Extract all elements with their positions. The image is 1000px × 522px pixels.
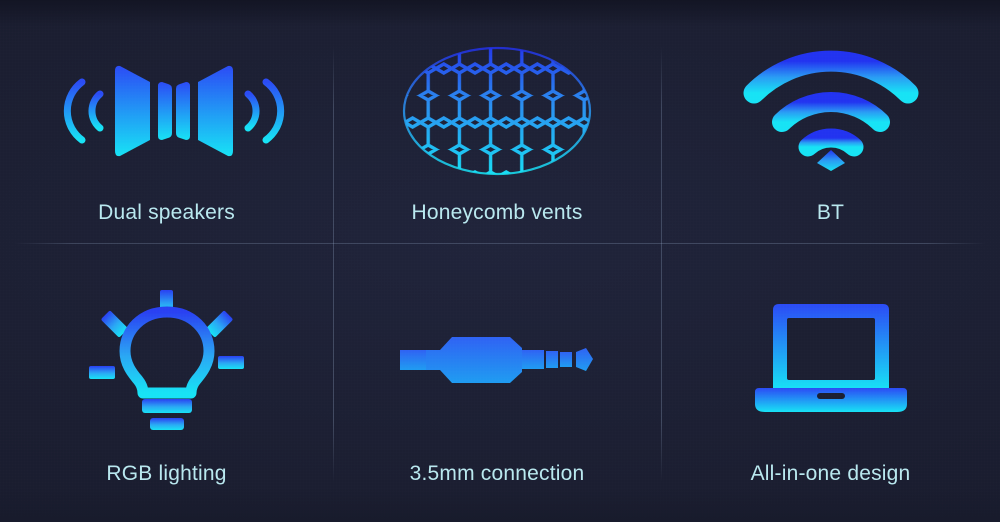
feature-label-dual-speakers: Dual speakers: [98, 202, 235, 223]
honeycomb-vents-icon: [397, 41, 597, 181]
bluetooth-wifi-signal-icon: [746, 51, 916, 171]
dual-speakers-icon-area: [0, 36, 333, 186]
feature-cell-honeycomb-vents[interactable]: Honeycomb vents: [333, 0, 661, 243]
feature-label-all-in-one-design: All-in-one design: [751, 463, 911, 484]
dual-speakers-icon: [62, 56, 272, 166]
light-bulb-icon: [87, 290, 247, 430]
feature-cell-35mm-connection[interactable]: 3.5mm connection: [333, 243, 661, 522]
feature-label-35mm-connection: 3.5mm connection: [410, 463, 585, 484]
feature-cell-all-in-one-design[interactable]: All-in-one design: [661, 243, 1000, 522]
audio-jack-icon-area: [333, 285, 661, 435]
feature-label-bt: BT: [817, 202, 844, 223]
feature-label-honeycomb-vents: Honeycomb vents: [411, 202, 582, 223]
honeycomb-vents-icon-area: [333, 36, 661, 186]
audio-jack-icon: [400, 328, 595, 392]
feature-board: Dual speakers: [0, 0, 1000, 522]
feature-cell-dual-speakers[interactable]: Dual speakers: [0, 0, 333, 243]
bt-icon-area: [661, 36, 1000, 186]
feature-cell-rgb-lighting[interactable]: RGB lighting: [0, 243, 333, 522]
laptop-icon-area: [661, 285, 1000, 435]
feature-cell-bt[interactable]: BT: [661, 0, 1000, 243]
rgb-lighting-icon-area: [0, 285, 333, 435]
feature-grid: Dual speakers: [0, 0, 1000, 522]
laptop-icon: [751, 302, 911, 418]
feature-label-rgb-lighting: RGB lighting: [106, 463, 226, 484]
